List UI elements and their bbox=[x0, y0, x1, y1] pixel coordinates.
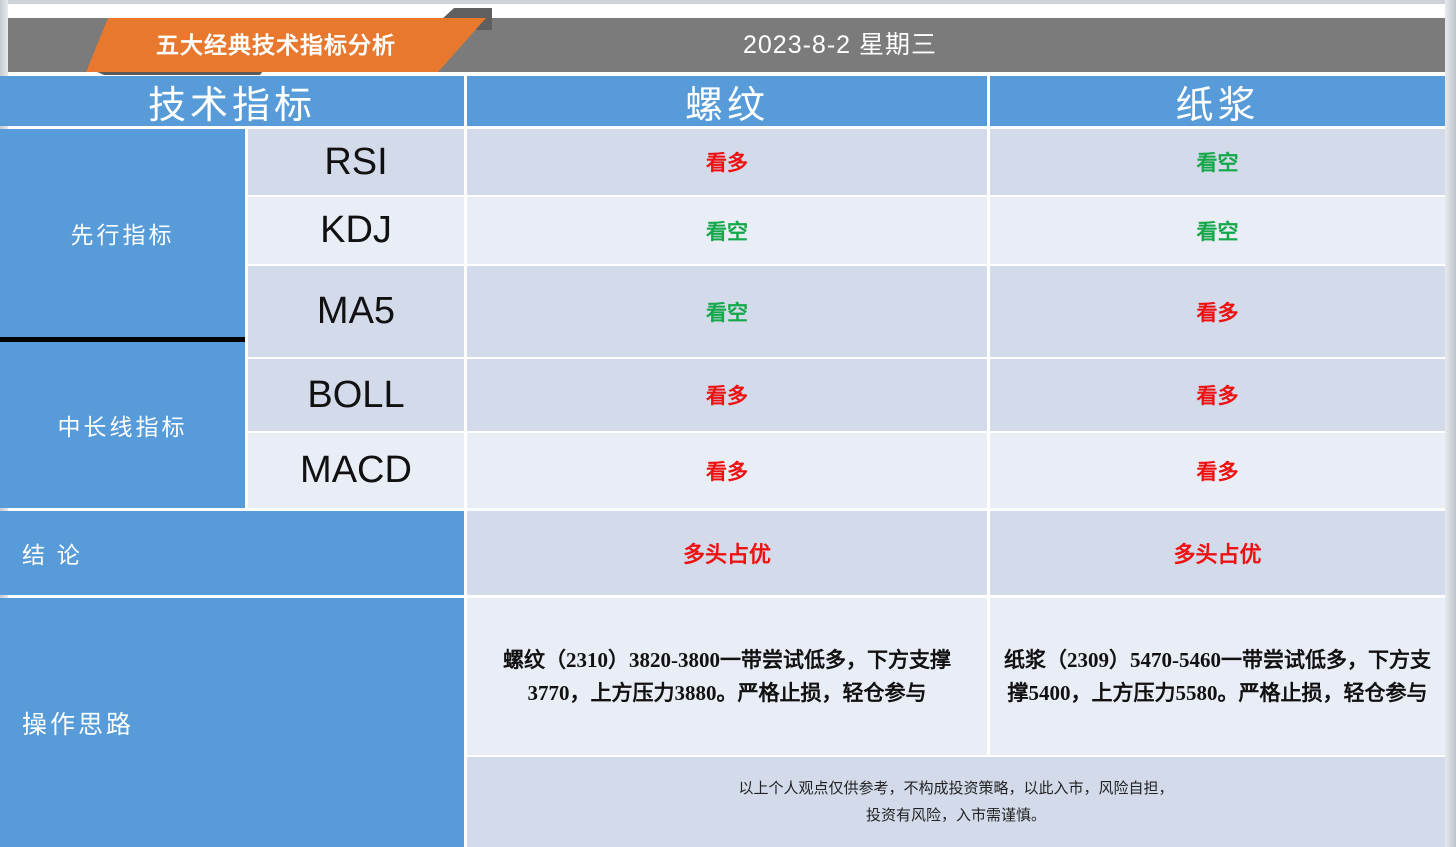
indicator-name-macd: MACD bbox=[248, 433, 464, 508]
signal-zhijiang-macd: 看多 bbox=[990, 433, 1445, 508]
indicator-name-kdj: KDJ bbox=[248, 197, 464, 264]
disclaimer-line-1: 以上个人观点仅供参考，不构成投资策略，以此入市，风险自担， bbox=[738, 775, 1173, 802]
signal-luowen-kdj: 看空 bbox=[467, 197, 987, 264]
slide-canvas: 2023-8-2 星期三 五大经典技术指标分析 技术指标 螺纹 纸浆 先行指标 … bbox=[0, 0, 1456, 847]
signal-zhijiang-kdj: 看空 bbox=[990, 197, 1445, 264]
disclaimer-line-2: 投资有风险，入市需谨慎。 bbox=[866, 802, 1046, 829]
group-label-midlong: 中长线指标 bbox=[0, 342, 245, 508]
header-banner-title: 五大经典技术指标分析 bbox=[86, 18, 466, 72]
disclaimer-block: 以上个人观点仅供参考，不构成投资策略，以此入市，风险自担， 投资有风险，入市需谨… bbox=[467, 757, 1445, 847]
table-header-zhijiang: 纸浆 bbox=[990, 76, 1445, 126]
conclusion-zhijiang: 多头占优 bbox=[990, 511, 1445, 595]
signal-zhijiang-rsi: 看空 bbox=[990, 129, 1445, 195]
header-date: 2023-8-2 星期三 bbox=[560, 18, 1120, 72]
signal-zhijiang-boll: 看多 bbox=[990, 359, 1445, 431]
signal-luowen-boll: 看多 bbox=[467, 359, 987, 431]
indicator-name-rsi: RSI bbox=[248, 129, 464, 195]
operations-text-luowen: 螺纹（2310）3820-3800一带尝试低多，下方支撑3770，上方压力388… bbox=[467, 598, 987, 755]
conclusion-label: 结 论 bbox=[0, 511, 464, 595]
signal-luowen-ma5: 看空 bbox=[467, 266, 987, 357]
signal-luowen-rsi: 看多 bbox=[467, 129, 987, 195]
slide-right-edge bbox=[1445, 0, 1456, 847]
indicator-name-boll: BOLL bbox=[248, 359, 464, 431]
slide-top-edge bbox=[0, 0, 1456, 4]
signal-luowen-macd: 看多 bbox=[467, 433, 987, 508]
signal-zhijiang-ma5: 看多 bbox=[990, 266, 1445, 357]
group-label-leading: 先行指标 bbox=[0, 129, 245, 337]
table-header-luowen: 螺纹 bbox=[467, 76, 987, 126]
table-header-indicator: 技术指标 bbox=[0, 76, 464, 126]
operations-text-zhijiang: 纸浆（2309）5470-5460一带尝试低多，下方支撑5400，上方压力558… bbox=[990, 598, 1445, 755]
indicator-name-ma5: MA5 bbox=[248, 266, 464, 357]
operations-label: 操作思路 bbox=[0, 598, 464, 847]
conclusion-luowen: 多头占优 bbox=[467, 511, 987, 595]
